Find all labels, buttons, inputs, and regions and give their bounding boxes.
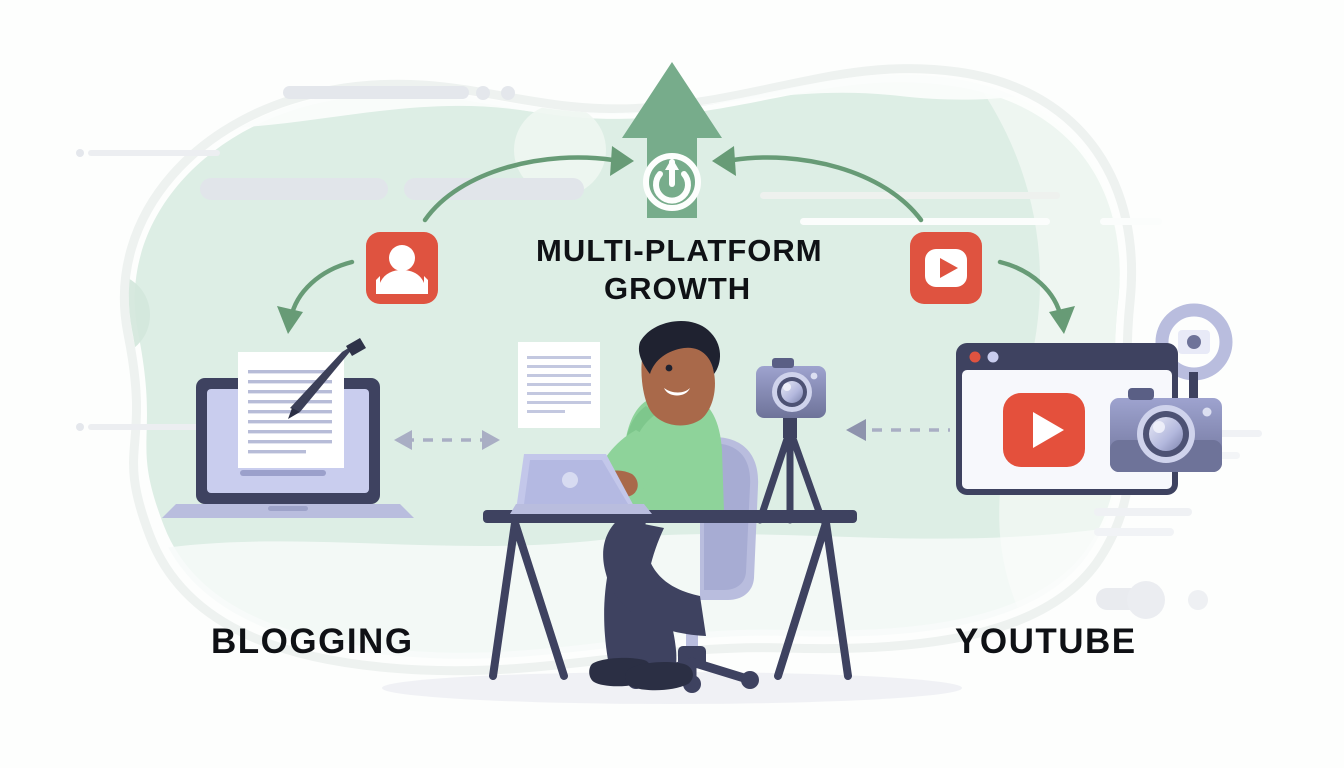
laptop-trackpad-notch <box>268 506 308 511</box>
camera-icon <box>1110 388 1222 472</box>
person-eye <box>666 365 673 372</box>
browser-close-dot <box>970 352 981 363</box>
user-profile-badge[interactable] <box>366 232 438 304</box>
label-youtube: YOUTUBE <box>955 622 1137 662</box>
laptop-logo <box>562 472 578 488</box>
page-title-line1: MULTI-PLATFORM <box>536 233 823 269</box>
camera-top <box>772 358 794 368</box>
browser-minimize-dot <box>988 352 999 363</box>
tripod-head <box>783 416 797 438</box>
desk-laptop-base <box>510 504 652 514</box>
illustration-canvas: MULTI-PLATFORM GROWTH BLOGGING YOUTUBE <box>0 0 1344 768</box>
youtube-badge[interactable] <box>910 232 982 304</box>
power-symbol-icon <box>646 156 698 208</box>
illustration-svg <box>0 0 1344 768</box>
label-blogging: BLOGGING <box>211 622 414 662</box>
page-title-line2: GROWTH <box>604 271 751 307</box>
person-shoe-front <box>625 662 693 690</box>
